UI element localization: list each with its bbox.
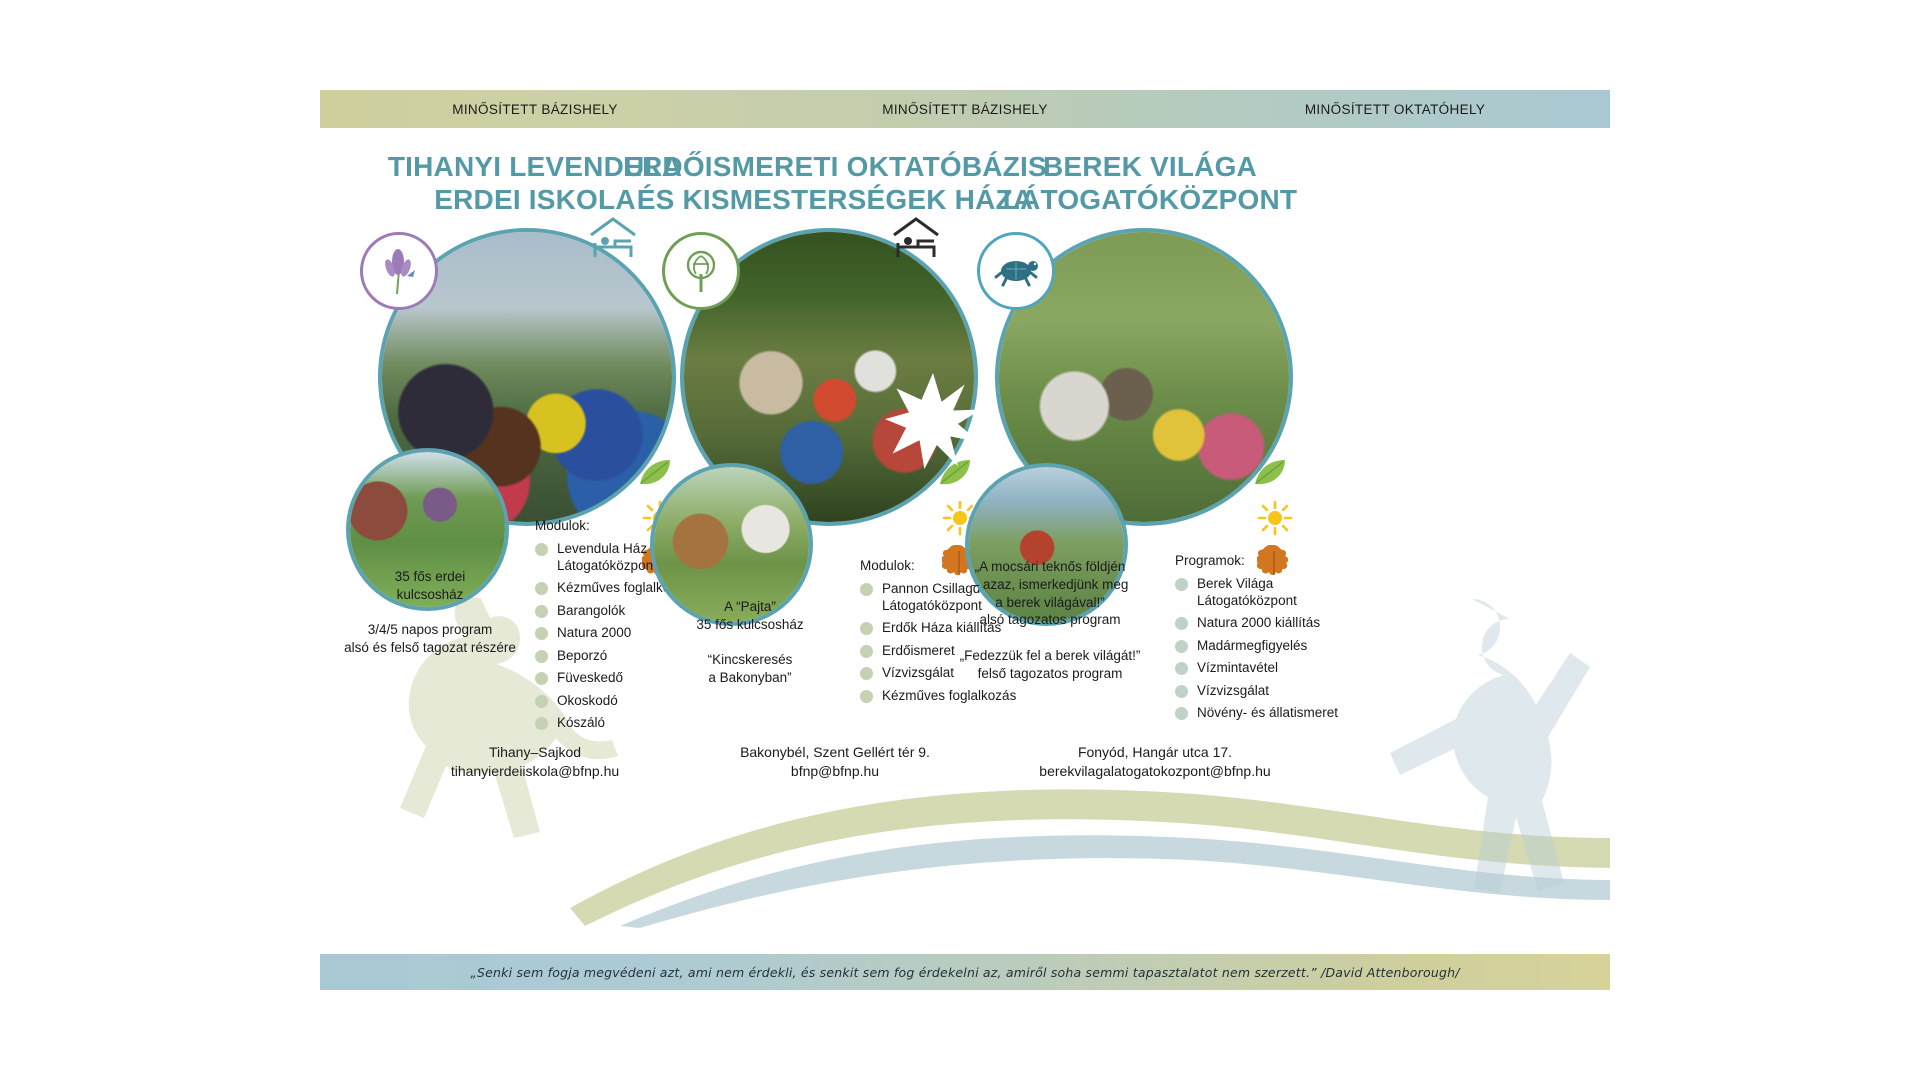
contact-3[interactable]: Fonyód, Hangár utca 17. berekvilagalatog…	[955, 743, 1355, 782]
sun-icon-3	[1257, 500, 1293, 536]
bullet-dot	[535, 543, 548, 556]
list-item: Vízvizsgálat	[1175, 683, 1375, 699]
bullet-dot	[535, 605, 548, 618]
list-item: Vízmintavétel	[1175, 660, 1375, 676]
list-item: Natura 2000 kiállítás	[1175, 615, 1375, 631]
note-text-1: 35 fős erdei kulcsosház 3/4/5 napos prog…	[330, 568, 530, 657]
list-item: Növény- és állatismeret	[1175, 705, 1375, 721]
banner-label-2: MINŐSÍTETT BÁZISHELY	[750, 90, 1180, 128]
bullet-dot	[1175, 578, 1188, 591]
list-item: Madármegfigyelés	[1175, 638, 1375, 654]
bullet-dot	[535, 672, 548, 685]
turtle-icon	[977, 232, 1055, 310]
bullet-dot	[860, 690, 873, 703]
bullet-dot	[1175, 640, 1188, 653]
poster: MINŐSÍTETT BÁZISHELY MINŐSÍTETT BÁZISHEL…	[320, 90, 1610, 990]
banner-label-3: MINŐSÍTETT OKTATÓHELY	[1180, 90, 1610, 128]
bullet-dot	[1175, 685, 1188, 698]
bullet-dot	[860, 645, 873, 658]
bullet-dot	[860, 583, 873, 596]
bullet-dot	[860, 667, 873, 680]
bullet-dot	[860, 622, 873, 635]
bullet-dot	[1175, 662, 1188, 675]
banner-label-1: MINŐSÍTETT BÁZISHELY	[320, 90, 750, 128]
child-silhouette-right	[1340, 583, 1590, 893]
bullet-dot	[1175, 707, 1188, 720]
program-list-3: Programok: Berek Világa Látogatóközpont …	[1175, 553, 1375, 728]
note-text-2: A “Pajta” 35 fős kulcsosház “Kincskeresé…	[645, 598, 855, 687]
bullet-dot	[535, 582, 548, 595]
qualification-banner: MINŐSÍTETT BÁZISHELY MINŐSÍTETT BÁZISHEL…	[320, 90, 1610, 128]
column-title-3: BEREK VILÁGA LÁTOGATÓKÖZPONT	[935, 150, 1365, 216]
leaf-icon-3	[1253, 458, 1287, 488]
program-list-head-3: Programok:	[1175, 553, 1375, 569]
bullet-dot	[535, 717, 548, 730]
bullet-dot	[535, 695, 548, 708]
tree-icon	[662, 232, 740, 310]
columns-area: TIHANYI LEVENDULA ERDEI ISKOLA	[320, 128, 1610, 948]
footer-quote: „Senki sem fogja megvédeni azt, ami nem …	[320, 954, 1610, 990]
note-text-3: „A mocsári teknős földjén – azaz, ismerk…	[935, 558, 1165, 683]
bullet-dot	[1175, 617, 1188, 630]
column-fonyod: BEREK VILÁGA LÁTOGATÓKÖZPONT	[935, 128, 1365, 948]
bullet-dot	[535, 650, 548, 663]
lavender-icon	[360, 232, 438, 310]
bullet-dot	[535, 627, 548, 640]
list-item: Berek Világa Látogatóközpont	[1175, 576, 1375, 609]
